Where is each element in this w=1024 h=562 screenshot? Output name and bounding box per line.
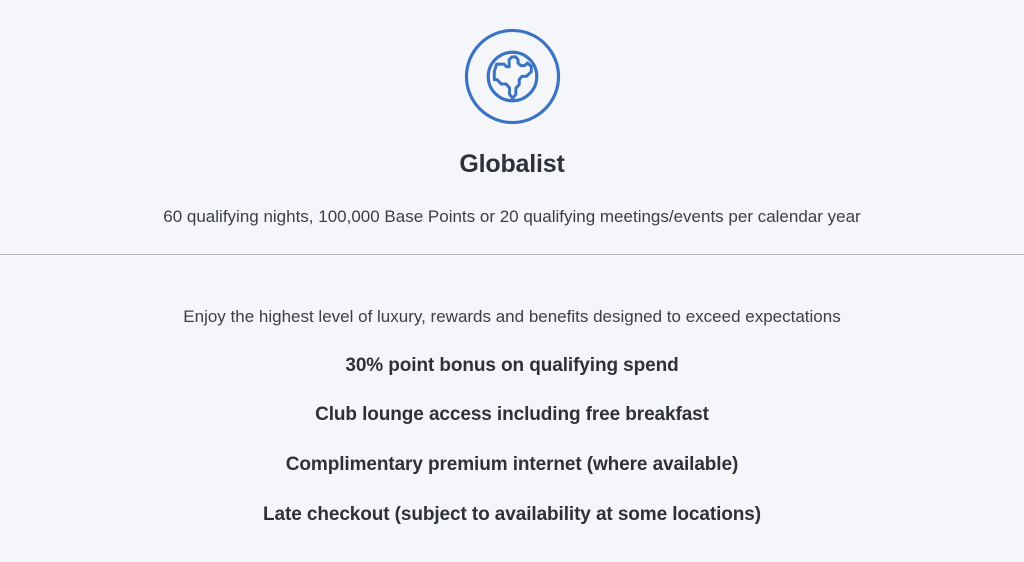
- section-divider: [0, 254, 1024, 255]
- list-item: Late checkout (subject to availability a…: [0, 503, 1024, 527]
- list-item: Complimentary premium internet (where av…: [0, 453, 1024, 477]
- tier-header: Globalist 60 qualifying nights, 100,000 …: [0, 0, 1024, 263]
- globe-icon: [463, 27, 562, 126]
- tier-requirements: 60 qualifying nights, 100,000 Base Point…: [163, 206, 860, 227]
- page-title: Globalist: [459, 152, 564, 177]
- benefits-intro: Enjoy the highest level of luxury, rewar…: [183, 307, 840, 327]
- list-item: 30% point bonus on qualifying spend: [0, 354, 1024, 378]
- benefits-list: 30% point bonus on qualifying spend Club…: [0, 328, 1024, 527]
- list-item: Club lounge access including free breakf…: [0, 403, 1024, 427]
- tier-card: Globalist 60 qualifying nights, 100,000 …: [0, 0, 1024, 562]
- tier-badge: [463, 27, 562, 126]
- benefits-section: Enjoy the highest level of luxury, rewar…: [0, 263, 1024, 562]
